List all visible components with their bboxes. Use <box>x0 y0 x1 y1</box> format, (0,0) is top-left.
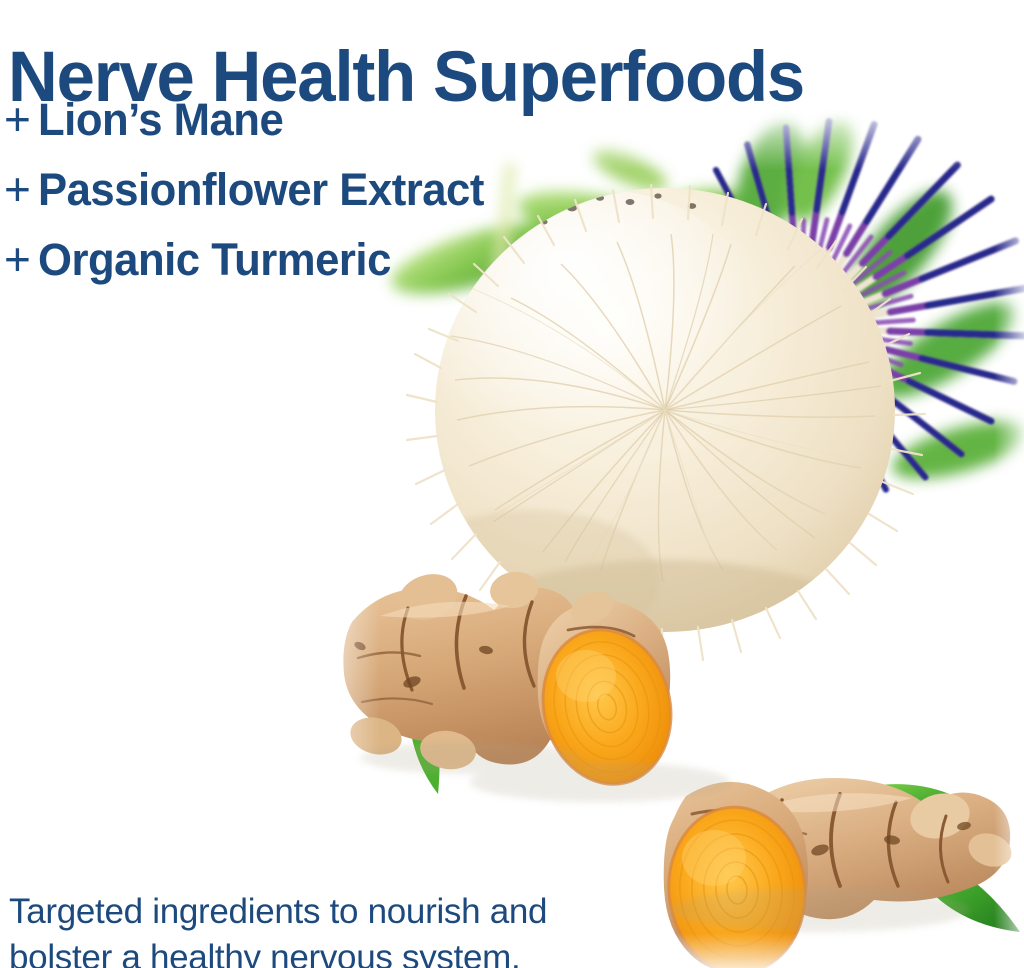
nerve-health-superfoods-banner: Nerve Health Superfoods + Lion’s Mane + … <box>0 0 1024 968</box>
plus-icon: + <box>4 166 38 212</box>
benefit-item-lions-mane: + Lion’s Mane <box>4 96 498 166</box>
plus-icon: + <box>4 236 38 282</box>
benefit-label: Organic Turmeric <box>38 237 391 282</box>
caption-line-1: Targeted ingredients to nourish and <box>9 889 649 935</box>
benefit-label: Passionflower Extract <box>38 167 484 212</box>
plus-icon: + <box>4 96 38 142</box>
benefit-label: Lion’s Mane <box>38 97 283 142</box>
caption-line-2: bolster a healthy nervous system. <box>9 935 649 968</box>
benefit-item-organic-turmeric: + Organic Turmeric <box>4 236 498 306</box>
benefit-list: + Lion’s Mane + Passionflower Extract + … <box>4 96 498 306</box>
caption: Targeted ingredients to nourish and bols… <box>9 889 649 968</box>
benefit-item-passionflower-extract: + Passionflower Extract <box>4 166 498 236</box>
